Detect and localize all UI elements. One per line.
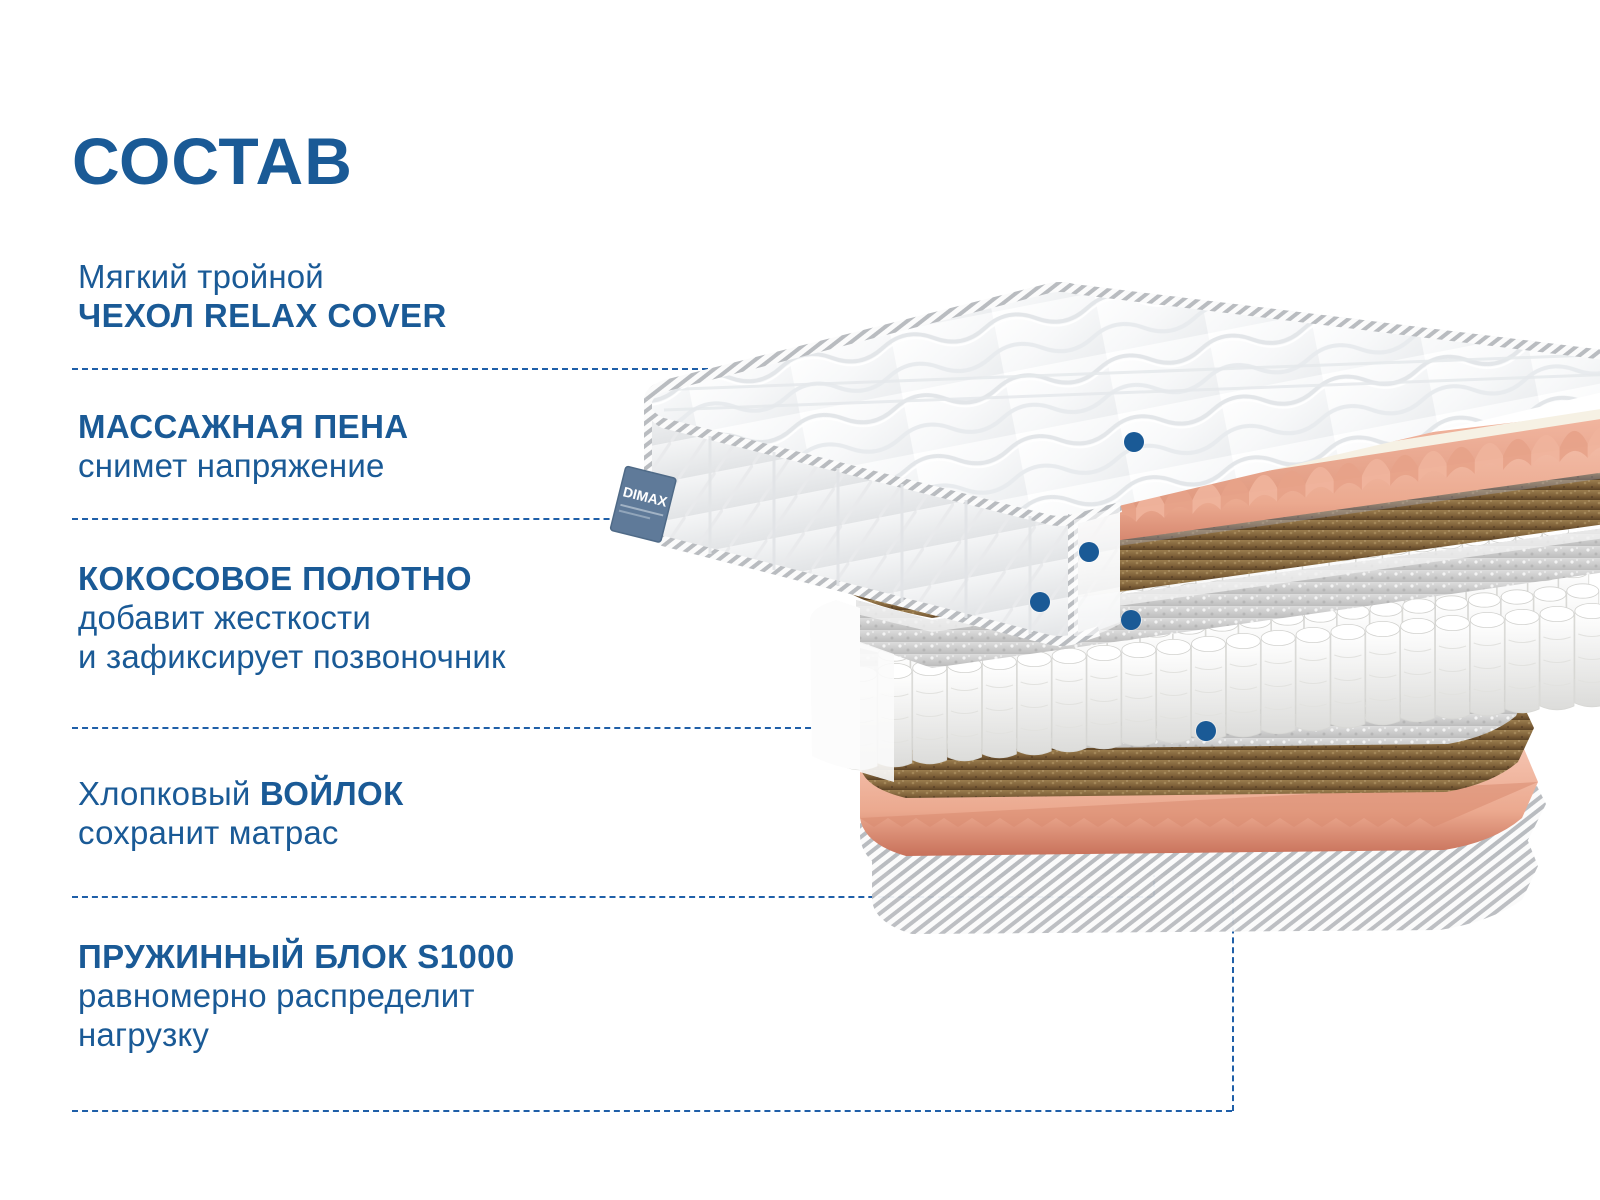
cover-cut-face	[1074, 506, 1120, 636]
spec-line: добавит жесткости	[78, 599, 506, 638]
spec-line: Хлопковый ВОЙЛОК	[78, 775, 404, 814]
spec-block-massage-foam: МАССАЖНАЯ ПЕНА снимет напряжение	[78, 408, 409, 486]
spec-block-spring-block: ПРУЖИННЫЙ БЛОК S1000 равномерно распреде…	[78, 938, 515, 1055]
divider-line-5	[72, 1110, 1232, 1112]
spec-line: снимет напряжение	[78, 447, 409, 486]
poster-canvas: СОСТАВ Мягкий тройной ЧЕХОЛ RELAX COVER …	[0, 0, 1600, 1200]
spec-block-cover: Мягкий тройной ЧЕХОЛ RELAX COVER	[78, 258, 447, 336]
cut-white-block	[810, 600, 860, 770]
spec-line: ПРУЖИННЫЙ БЛОК S1000	[78, 938, 515, 977]
callout-dot-cover	[1124, 432, 1144, 452]
spec-line: и зафиксирует позвоночник	[78, 638, 506, 677]
mattress-svg: DIMAX	[560, 270, 1600, 950]
mattress-cutaway-illustration: DIMAX	[560, 270, 1600, 950]
spec-line: Мягкий тройной	[78, 258, 447, 297]
spec-block-cotton-felt: Хлопковый ВОЙЛОК сохранит матрас	[78, 775, 404, 853]
spec-line: нагрузку	[78, 1016, 515, 1055]
callout-dot-coconut	[1030, 592, 1050, 612]
foam-cut-edge	[860, 642, 894, 782]
spec-line: ЧЕХОЛ RELAX COVER	[78, 297, 447, 336]
page-title: СОСТАВ	[72, 128, 353, 194]
callout-dot-felt	[1121, 610, 1141, 630]
callout-dot-massage-foam	[1079, 542, 1099, 562]
spec-line-prefix: Хлопковый	[78, 775, 260, 812]
spec-line: КОКОСОВОЕ ПОЛОТНО	[78, 560, 506, 599]
callout-dot-springs	[1196, 721, 1216, 741]
spec-line: сохранит матрас	[78, 814, 404, 853]
spec-line-emphasis: ВОЙЛОК	[260, 775, 404, 812]
spec-line: МАССАЖНАЯ ПЕНА	[78, 408, 409, 447]
spec-block-coconut-coir: КОКОСОВОЕ ПОЛОТНО добавит жесткости и за…	[78, 560, 506, 677]
spec-line: равномерно распределит	[78, 977, 515, 1016]
